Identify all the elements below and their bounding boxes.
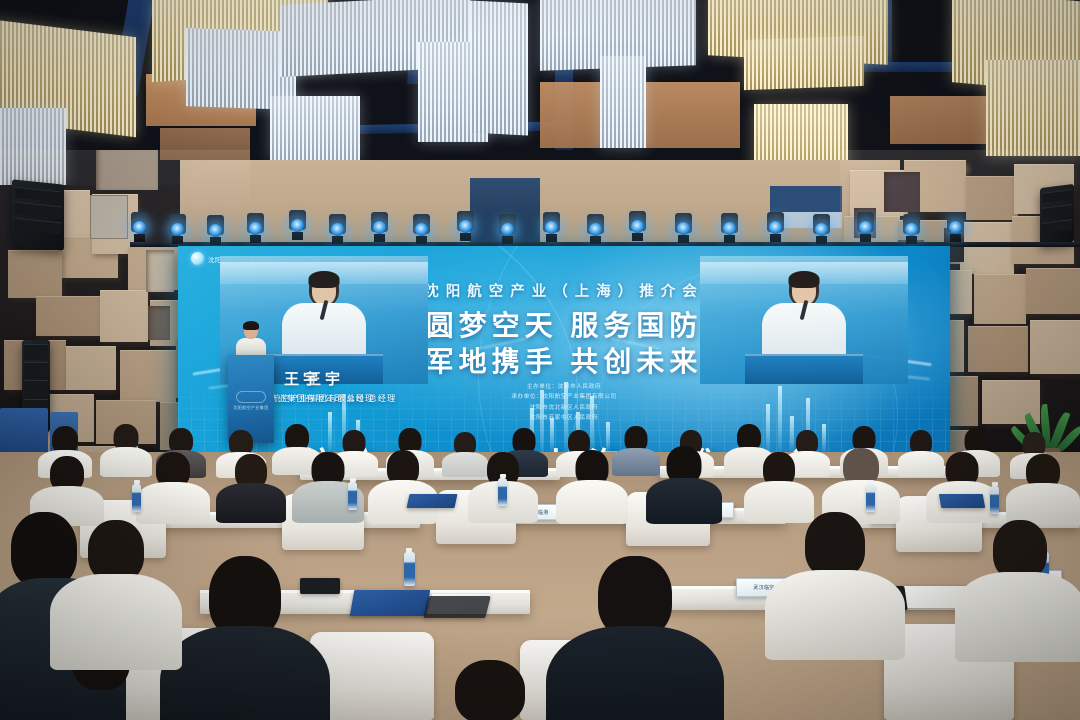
moving-head-light	[674, 213, 693, 243]
audience-member	[926, 452, 998, 520]
water-bottle	[404, 552, 415, 586]
audience-member	[646, 446, 722, 520]
audience-member	[744, 452, 814, 520]
speaker-name: 王宇	[178, 368, 428, 389]
audience-member	[556, 450, 628, 520]
water-bottle	[866, 484, 875, 512]
water-bottle	[348, 482, 357, 510]
moving-head-light	[856, 212, 875, 242]
clipboard	[423, 596, 490, 618]
moving-head-light	[902, 214, 921, 244]
moving-head-light	[586, 214, 605, 244]
moving-head-light	[370, 212, 389, 242]
audience-member	[30, 456, 104, 520]
wall-inset-frame	[148, 306, 170, 340]
moving-head-light	[206, 215, 225, 245]
speaker-video-right	[700, 256, 908, 384]
chandelier	[986, 60, 1080, 156]
moving-head-light	[328, 214, 347, 244]
company-logo-icon	[191, 252, 204, 265]
moving-head-light	[130, 212, 149, 242]
moving-head-light	[720, 213, 739, 243]
water-bottle	[498, 478, 507, 506]
speaker-caption-right: 王宇 沈阳航空产业集团有限公司 总经理	[178, 368, 428, 404]
chandelier	[600, 56, 646, 148]
wall-inset-frame	[96, 150, 158, 190]
water-bottle	[990, 486, 999, 514]
audience-member	[1006, 454, 1080, 520]
audience-member	[960, 520, 1080, 640]
chandelier	[470, 0, 528, 135]
audience-member	[420, 660, 560, 720]
moving-head-light	[542, 212, 561, 242]
moving-head-light	[766, 212, 785, 242]
organizer-line: 沈阳市沈北新区人民政府	[178, 403, 950, 413]
moving-head-light	[498, 214, 517, 244]
audience-member	[368, 450, 438, 520]
moving-head-light	[456, 211, 475, 241]
moving-head-light	[812, 214, 831, 244]
lighting-truss	[130, 200, 1080, 252]
audience-member	[560, 556, 710, 720]
moving-head-light	[628, 211, 647, 241]
audience-member	[822, 448, 900, 520]
conference-folder	[407, 494, 458, 508]
audience-member	[136, 452, 210, 520]
moving-head-light	[946, 212, 965, 242]
audience-member	[216, 454, 286, 520]
chandelier	[270, 96, 360, 160]
chandelier	[744, 36, 864, 90]
moving-head-light	[412, 214, 431, 244]
moving-head-light	[288, 210, 307, 240]
moving-head-light	[246, 213, 265, 243]
line-array-speaker	[12, 179, 64, 250]
audience-member	[770, 512, 900, 632]
water-bottle	[132, 484, 141, 512]
audience-member	[170, 556, 320, 720]
wall-mirror	[90, 195, 128, 239]
organizer-line: 沈阳市苏家屯区人民政府	[178, 413, 950, 423]
podium-label: 沈阳航空产业集团	[228, 405, 274, 411]
audience-member	[56, 520, 176, 650]
moving-head-light	[168, 214, 187, 244]
wall-inset-frame	[146, 250, 174, 292]
conference-folder	[350, 590, 431, 616]
conference-folder	[939, 494, 985, 508]
conference-hall-photo: 沈阳航空产业集团有限公司 沈阳航空产业（上海）推介会 圆梦空天 服务国防 军地携…	[0, 0, 1080, 720]
speaker-title: 沈阳航空产业集团有限公司 总经理	[178, 392, 428, 404]
